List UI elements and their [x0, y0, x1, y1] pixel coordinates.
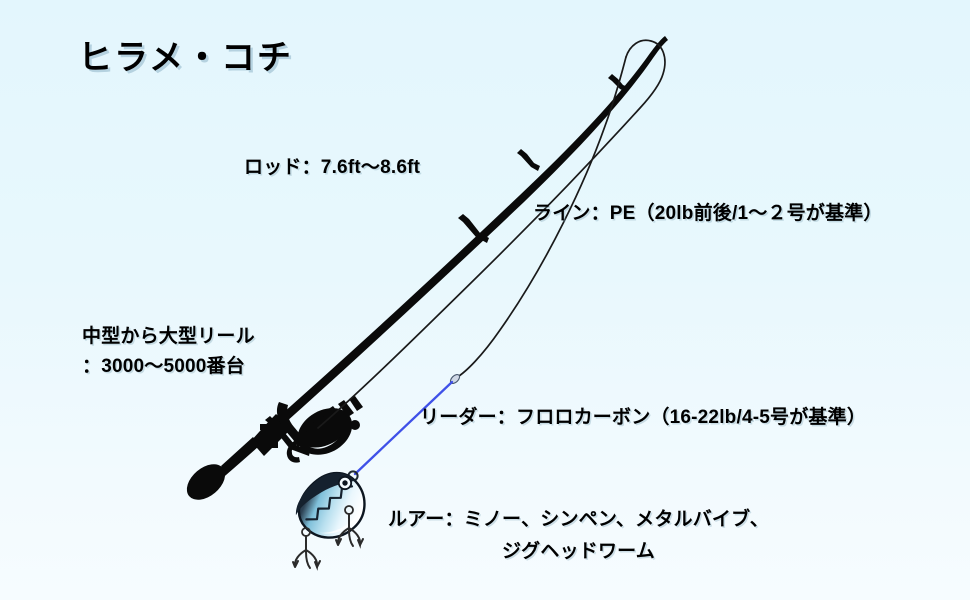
diagram-canvas: ヒラメ・コチ ロッド：7.6ft〜8.6ft ライン：PE（20lb前後/1〜２…	[0, 0, 970, 600]
label-leader: リーダー：フロロカーボン（16-22lb/4-5号が基準）	[420, 402, 866, 429]
label-reel-line1: 中型から大型リール	[82, 322, 255, 352]
label-lure: ルアー：ミノー、シンペン、メタルバイブ、 ジグヘッドワーム	[388, 504, 769, 568]
label-lure-line2: ジグヘッドワーム	[388, 536, 769, 568]
pe-main-line	[318, 40, 665, 428]
label-reel-line2: ：3000〜5000番台	[82, 352, 255, 382]
label-line: ライン：PE（20lb前後/1〜２号が基準）	[533, 198, 883, 225]
spinning-reel	[260, 396, 363, 463]
label-lure-line1: ルアー：ミノー、シンペン、メタルバイブ、	[388, 504, 769, 536]
minnow-lure	[287, 462, 378, 552]
label-reel: 中型から大型リール ：3000〜5000番台	[82, 322, 255, 382]
label-rod: ロッド：7.6ft〜8.6ft	[244, 152, 420, 179]
page-title: ヒラメ・コチ	[78, 30, 293, 79]
